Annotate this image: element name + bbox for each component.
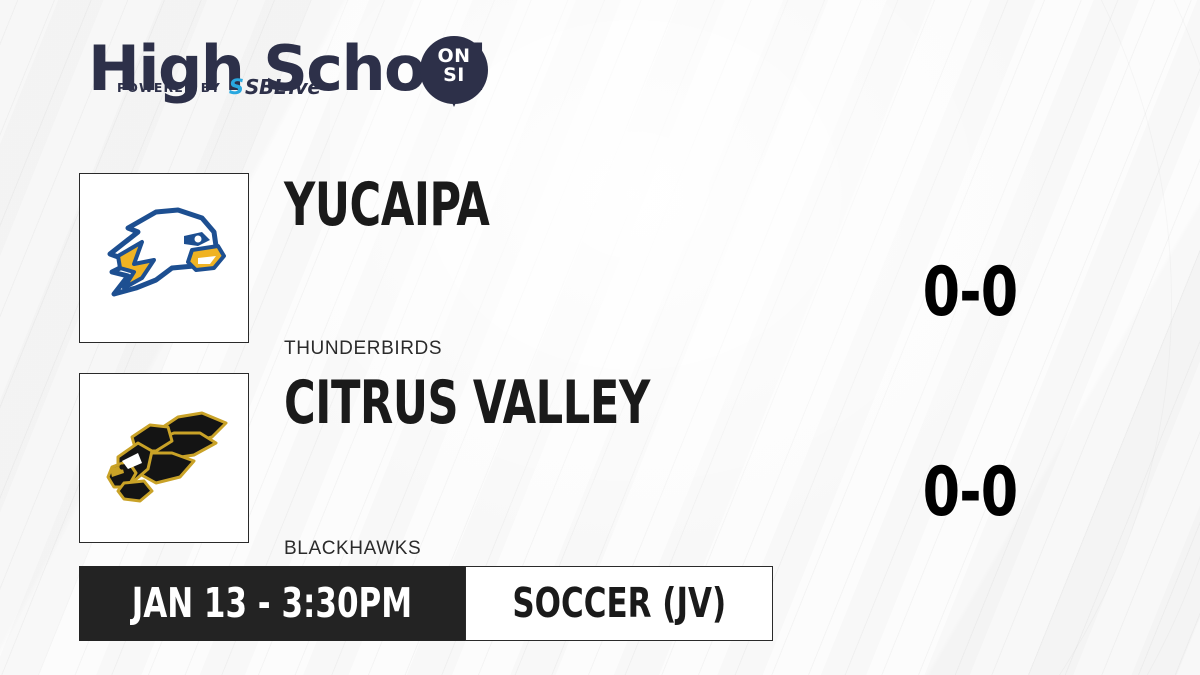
sblive-logo: S SBL ive bbox=[229, 77, 321, 98]
away-team-name: CITRUS VALLEY bbox=[284, 373, 650, 433]
home-team-name: YUCAIPA bbox=[284, 175, 489, 235]
hawk-in-flight-icon bbox=[94, 403, 234, 513]
on-si-pin-icon: ON SI bbox=[420, 36, 488, 104]
home-team-record: 0-0 bbox=[873, 259, 1067, 327]
sblive-s-glyph-icon: S bbox=[229, 77, 243, 98]
sblive-wordmark-upper: SBL bbox=[245, 77, 286, 97]
game-sport-label: SOCCER (JV) bbox=[512, 583, 726, 624]
sblive-wordmark-lower: ive bbox=[288, 77, 320, 97]
thunderbird-head-icon bbox=[98, 202, 230, 314]
game-info-bar: JAN 13 - 3:30PM SOCCER (JV) bbox=[79, 566, 773, 641]
citrus-valley-blackhawks-logo bbox=[79, 373, 249, 543]
pin-label: ON SI bbox=[420, 47, 488, 85]
powered-by-label: POWERED BY bbox=[117, 80, 221, 95]
home-team-nickname: THUNDERBIRDS bbox=[284, 339, 442, 358]
yucaipa-thunderbirds-logo bbox=[79, 173, 249, 343]
away-team-nickname: BLACKHAWKS bbox=[284, 539, 421, 558]
game-sport-panel: SOCCER (JV) bbox=[465, 566, 773, 641]
pin-label-line2: SI bbox=[420, 66, 488, 85]
powered-by-lockup: POWERED BY S SBL ive bbox=[117, 76, 321, 98]
away-team-record: 0-0 bbox=[873, 459, 1067, 527]
game-datetime-label: JAN 13 - 3:30PM bbox=[132, 583, 412, 624]
matchup-graphic: High School ON SI POWERED BY S SBL ive bbox=[0, 0, 1200, 675]
game-datetime-panel: JAN 13 - 3:30PM bbox=[79, 566, 465, 641]
